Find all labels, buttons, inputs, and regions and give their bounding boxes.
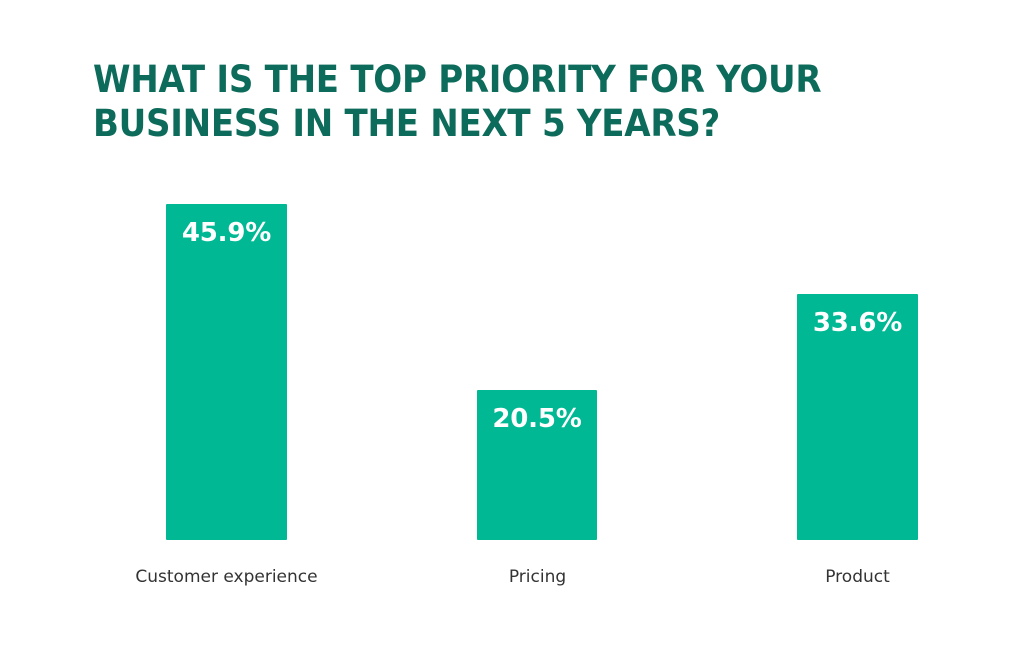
bar-pricing[interactable]: 20.5% (477, 390, 597, 540)
bar-chart-figure: WHAT IS THE TOP PRIORITY FOR YOUR BUSINE… (40, 16, 1024, 649)
bar-value-label: 33.6% (797, 308, 918, 338)
plot-area: 45.9% Customer experience 20.5% Pricing … (40, 16, 1024, 649)
category-label-customer-experience: Customer experience (86, 566, 367, 588)
category-label-pricing: Pricing (447, 566, 628, 588)
bar-product[interactable]: 33.6% (797, 294, 918, 540)
bar-value-label: 20.5% (477, 404, 597, 434)
bar-value-label: 45.9% (166, 218, 287, 248)
bar-customer-experience[interactable]: 45.9% (166, 204, 287, 540)
category-label-product: Product (767, 566, 948, 588)
